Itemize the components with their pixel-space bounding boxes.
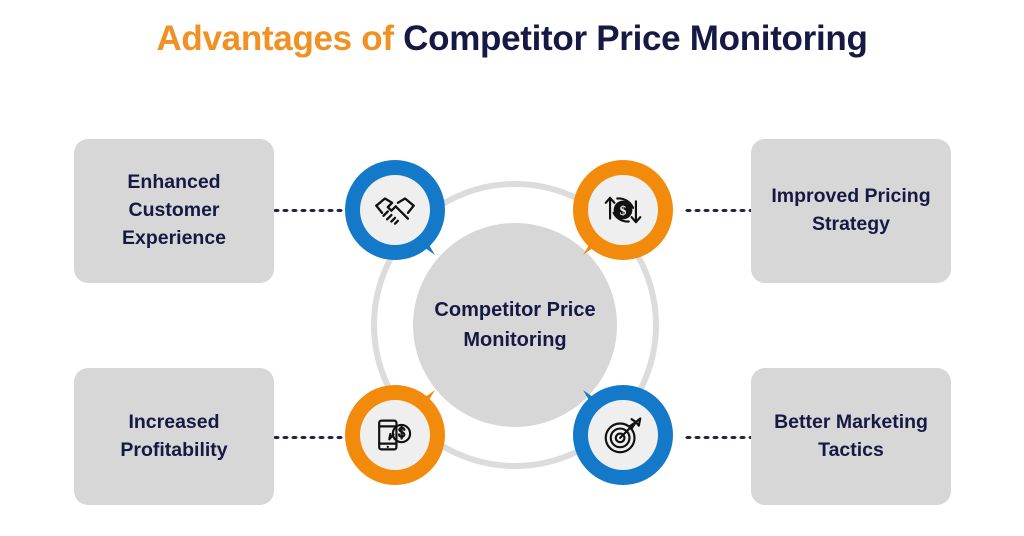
label-text: Enhanced Customer Experience — [88, 169, 260, 252]
node-enhanced-customer-experience — [343, 158, 447, 262]
bubble-shape-orange-tail-down-left — [571, 158, 675, 262]
label-box-increased-profitability: Increased Profitability — [74, 368, 274, 505]
label-text: Improved Pricing Strategy — [765, 183, 937, 238]
bubble-shape-orange-tail-up-right — [343, 383, 447, 487]
connector-increased-profitability — [272, 435, 348, 440]
bubble-shape-blue-tail-down-right — [343, 158, 447, 262]
page-title: Advantages of Competitor Price Monitorin… — [0, 16, 1024, 62]
label-text: Increased Profitability — [88, 409, 260, 464]
label-text: Better Marketing Tactics — [765, 409, 937, 464]
label-box-better-marketing-tactics: Better Marketing Tactics — [751, 368, 951, 505]
bubble-shape-blue-tail-up-left — [571, 383, 675, 487]
connector-enhanced-customer-experience — [272, 208, 348, 213]
connector-better-marketing-tactics — [684, 435, 758, 440]
node-improved-pricing-strategy: $ — [571, 158, 675, 262]
node-increased-profitability — [343, 383, 447, 487]
connector-improved-pricing-strategy — [684, 208, 758, 213]
title-accent-text: Advantages of — [156, 19, 403, 58]
title-main-text: Competitor Price Monitoring — [403, 19, 867, 58]
label-box-improved-pricing-strategy: Improved Pricing Strategy — [751, 139, 951, 283]
label-box-enhanced-customer-experience: Enhanced Customer Experience — [74, 139, 274, 283]
node-better-marketing-tactics — [571, 383, 675, 487]
